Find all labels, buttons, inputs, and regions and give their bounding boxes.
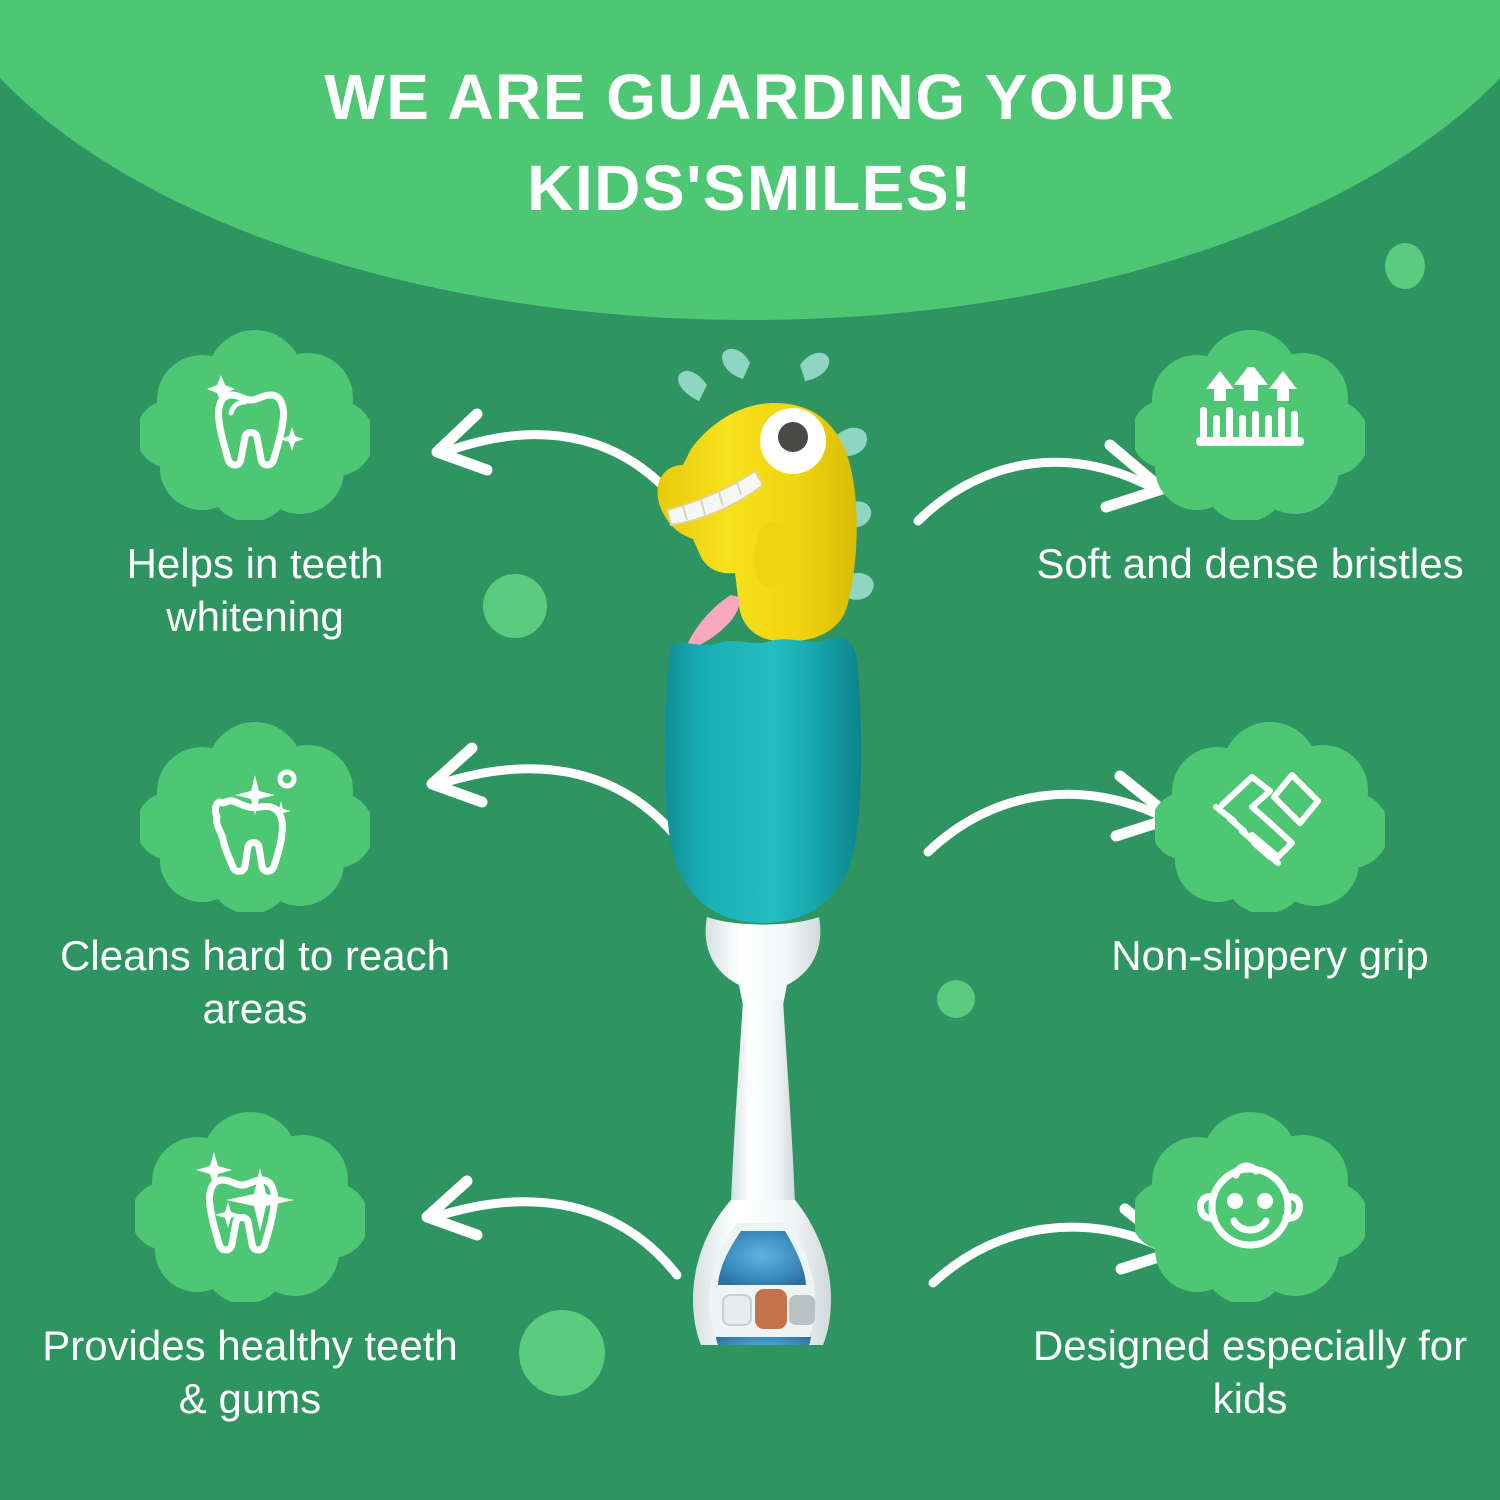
sparkling-tooth-icon — [195, 365, 315, 485]
dino-eye-pupil — [778, 422, 808, 452]
feature-badge — [140, 722, 370, 912]
feature-badge — [1155, 722, 1385, 912]
decorative-dot-mid-right — [937, 980, 975, 1018]
feature-label: Soft and dense bristles — [1030, 538, 1470, 591]
baby-face-icon — [1190, 1151, 1310, 1263]
feature-badge — [140, 330, 370, 520]
handle-shaft — [731, 1000, 795, 1205]
decorative-dot-bottom-left — [519, 1310, 605, 1396]
title-line-1: WE ARE GUARDING YOUR — [324, 61, 1175, 133]
product-image-dinosaur-toothbrush — [615, 345, 905, 1345]
bristle-middle-row — [723, 1289, 815, 1329]
egg-shell-body — [665, 637, 862, 923]
page-title: WE ARE GUARDING YOUR KIDS'SMILES! — [0, 52, 1500, 234]
feature-label: Helps in teeth whitening — [35, 538, 475, 644]
bristles-arrows-icon — [1188, 367, 1312, 483]
feature-label: Cleans hard to reach areas — [35, 930, 475, 1036]
feature-label: Provides healthy teeth & gums — [30, 1320, 470, 1426]
feature-healthy-teeth-gums[interactable]: Provides healthy teeth & gums — [30, 1112, 470, 1426]
bristle-pad-bottom — [716, 1337, 811, 1345]
feature-designed-for-kids[interactable]: Designed especially for kids — [1030, 1112, 1470, 1426]
title-line-2: KIDS'SMILES! — [0, 143, 1500, 234]
feature-hard-to-reach[interactable]: Cleans hard to reach areas — [35, 722, 475, 1036]
plaque-tooth-icon — [195, 757, 315, 877]
feature-badge — [1135, 1112, 1365, 1302]
feature-badge — [1135, 330, 1365, 520]
infographic-canvas: WE ARE GUARDING YOUR KIDS'SMILES! — [0, 0, 1500, 1500]
feature-badge — [135, 1112, 365, 1302]
feature-label: Non-slippery grip — [1050, 930, 1490, 983]
shiny-tooth-icon — [188, 1146, 312, 1268]
handle-collar — [706, 917, 821, 1005]
handshake-icon — [1208, 761, 1332, 873]
feature-non-slippery-grip[interactable]: Non-slippery grip — [1050, 722, 1490, 983]
decorative-dot-mid-left — [483, 574, 547, 638]
feature-teeth-whitening[interactable]: Helps in teeth whitening — [35, 330, 475, 644]
feature-label: Designed especially for kids — [1030, 1320, 1470, 1426]
feature-soft-dense-bristles[interactable]: Soft and dense bristles — [1030, 330, 1470, 591]
decorative-dot-top-right — [1385, 243, 1425, 289]
